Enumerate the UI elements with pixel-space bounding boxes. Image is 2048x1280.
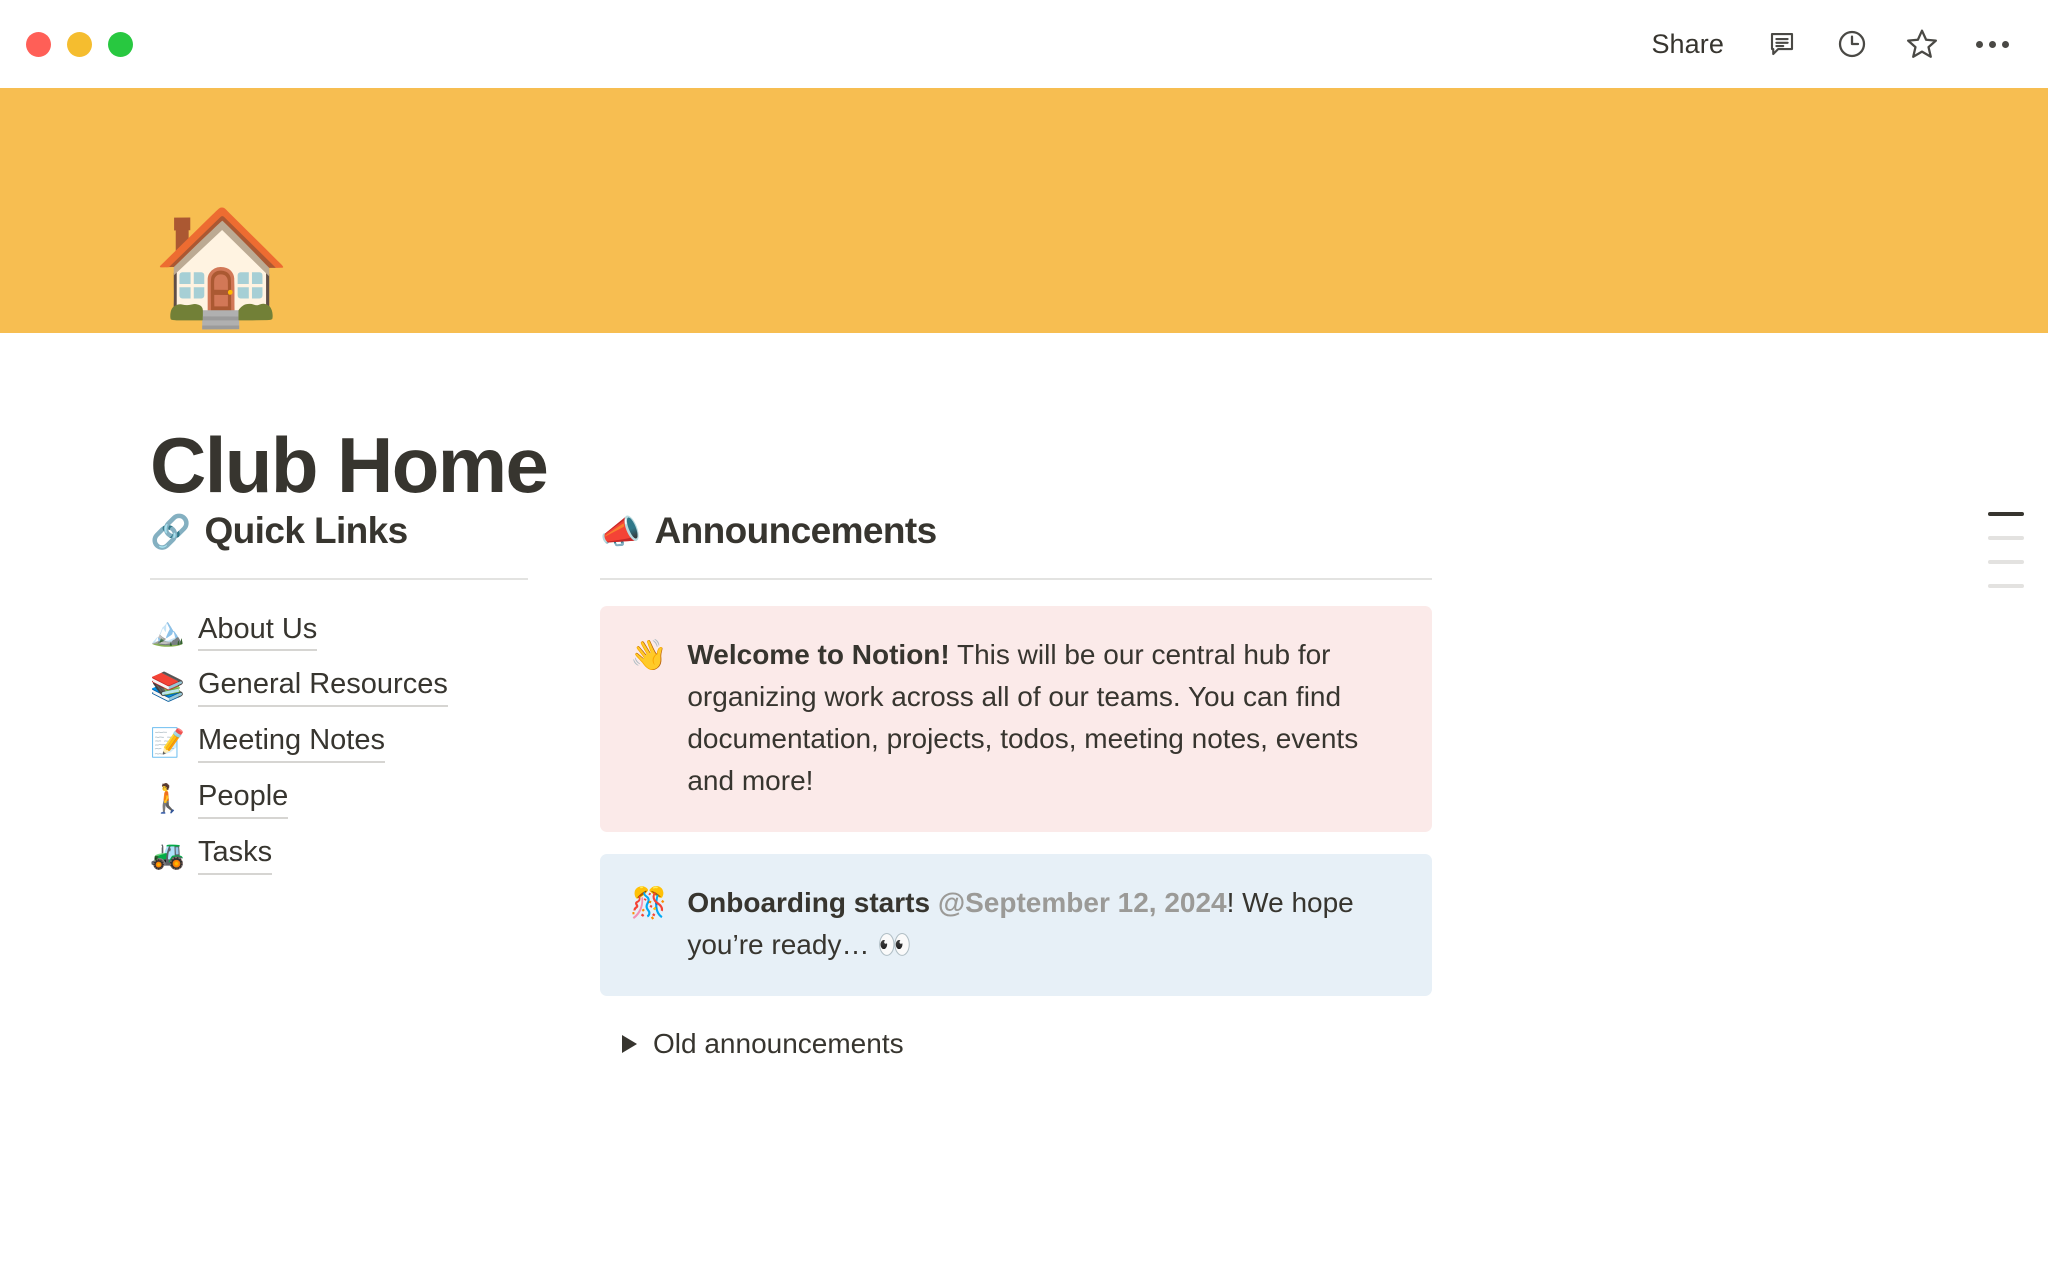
- person-walking-emoji: 🚶: [150, 785, 184, 813]
- memo-emoji: 📝: [150, 729, 184, 757]
- snow-mountain-emoji: 🏔️: [150, 618, 184, 646]
- minimize-window-button[interactable]: [67, 32, 92, 57]
- more-options-icon[interactable]: [1970, 22, 2014, 66]
- date-mention[interactable]: @September 12, 2024: [938, 887, 1227, 918]
- old-announcements-label[interactable]: Old announcements: [653, 1028, 904, 1060]
- callout-welcome-text[interactable]: Welcome to Notion! This will be our cent…: [687, 634, 1402, 802]
- link-label[interactable]: People: [198, 779, 288, 819]
- announcements-divider: [600, 578, 1432, 580]
- toc-bar[interactable]: [1988, 560, 2024, 564]
- history-clock-icon[interactable]: [1830, 22, 1874, 66]
- maximize-window-button[interactable]: [108, 32, 133, 57]
- window-titlebar: Share: [0, 0, 2048, 88]
- announcements-heading: 📣 Announcements: [600, 511, 1432, 552]
- link-item-general-resources[interactable]: 📚 General Resources: [150, 661, 530, 713]
- link-item-tasks[interactable]: 🚜 Tasks: [150, 829, 530, 881]
- tractor-emoji: 🚜: [150, 841, 184, 869]
- comment-icon[interactable]: [1760, 22, 1804, 66]
- link-item-people[interactable]: 🚶 People: [150, 773, 530, 825]
- two-column-layout: 🔗 Quick Links 🏔️ About Us 📚 General Reso…: [150, 511, 1928, 1070]
- link-emoji: 🔗: [150, 515, 191, 548]
- quick-links-heading-text: Quick Links: [205, 511, 408, 552]
- quick-links-column: 🔗 Quick Links 🏔️ About Us 📚 General Reso…: [150, 511, 530, 1070]
- link-item-about-us[interactable]: 🏔️ About Us: [150, 606, 530, 658]
- app-window: Share: [0, 0, 2048, 1280]
- megaphone-emoji: 📣: [600, 515, 641, 548]
- callout-onboarding-text[interactable]: Onboarding starts @September 12, 2024! W…: [687, 882, 1402, 966]
- link-label[interactable]: Meeting Notes: [198, 723, 385, 763]
- toc-bar[interactable]: [1988, 584, 2024, 588]
- traffic-light-controls: [26, 32, 133, 57]
- old-announcements-toggle[interactable]: Old announcements: [600, 1018, 1432, 1070]
- quick-links-heading: 🔗 Quick Links: [150, 511, 530, 552]
- quick-links-list: 🏔️ About Us 📚 General Resources 📝 Meetin…: [150, 606, 530, 881]
- chevron-right-icon[interactable]: [622, 1035, 637, 1053]
- link-label[interactable]: About Us: [198, 612, 317, 652]
- callout-onboarding-lead: Onboarding starts: [687, 887, 937, 918]
- announcements-column: 📣 Announcements 👋 Welcome to Notion! Thi…: [600, 511, 1432, 1070]
- callout-welcome[interactable]: 👋 Welcome to Notion! This will be our ce…: [600, 606, 1432, 832]
- favorite-star-icon[interactable]: [1900, 22, 1944, 66]
- page-content: 🏠 Club Home 🔗 Quick Links 🏔️ About Us 📚: [0, 333, 2048, 1280]
- topbar-actions: Share: [1641, 22, 2014, 66]
- toc-bar[interactable]: [1988, 536, 2024, 540]
- close-window-button[interactable]: [26, 32, 51, 57]
- link-label[interactable]: General Resources: [198, 667, 448, 707]
- page-title[interactable]: Club Home: [150, 425, 547, 507]
- share-button[interactable]: Share: [1641, 23, 1734, 66]
- waving-hand-emoji: 👋: [630, 634, 667, 802]
- callout-onboarding[interactable]: 🎊 Onboarding starts @September 12, 2024!…: [600, 854, 1432, 996]
- quick-links-divider: [150, 578, 528, 580]
- callout-welcome-lead: Welcome to Notion!: [687, 639, 949, 670]
- party-popper-emoji: 🎊: [630, 882, 667, 966]
- link-label[interactable]: Tasks: [198, 835, 272, 875]
- page-cover[interactable]: [0, 88, 2048, 333]
- books-emoji: 📚: [150, 673, 184, 701]
- link-item-meeting-notes[interactable]: 📝 Meeting Notes: [150, 717, 530, 769]
- announcements-heading-text: Announcements: [655, 511, 937, 552]
- house-emoji[interactable]: 🏠: [152, 205, 276, 329]
- toc-bar-active[interactable]: [1988, 512, 2024, 516]
- table-of-contents-indicator[interactable]: [1988, 512, 2024, 588]
